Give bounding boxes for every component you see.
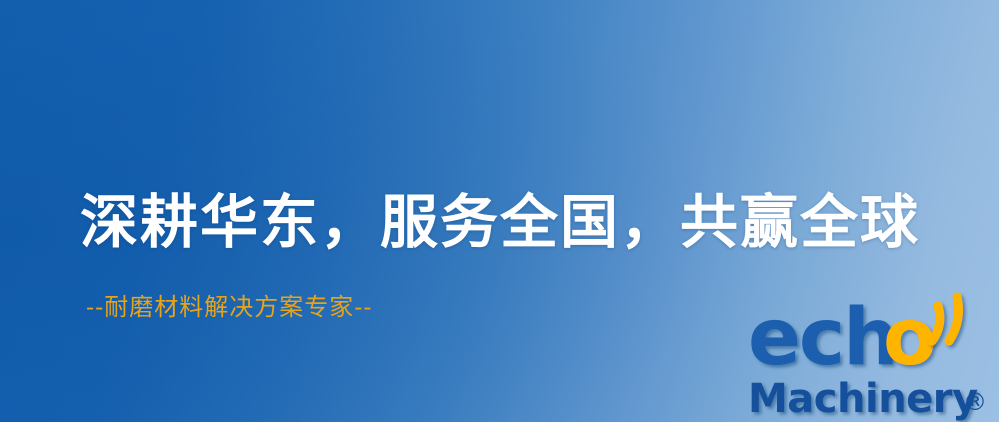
registered-trademark-icon: ® [963, 388, 987, 416]
promo-banner: 深耕华东，服务全国，共赢全球 --耐磨材料解决方案专家-- ech o [0, 0, 999, 422]
echo-machinery-logo[interactable]: ech o Machinery ® [742, 296, 999, 422]
signal-waves-icon [932, 297, 958, 341]
logo-wordmark-o: o [883, 293, 937, 383]
logo-artwork: ech o Machinery ® [742, 296, 999, 422]
banner-content: 深耕华东，服务全国，共赢全球 --耐磨材料解决方案专家-- ech o [0, 0, 999, 422]
banner-subtitle: --耐磨材料解决方案专家-- [86, 293, 372, 322]
logo-wordmark-ech: ech [748, 293, 897, 383]
banner-headline: 深耕华东，服务全国，共赢全球 [80, 191, 920, 254]
logo-wordmark-machinery: Machinery [748, 376, 978, 422]
